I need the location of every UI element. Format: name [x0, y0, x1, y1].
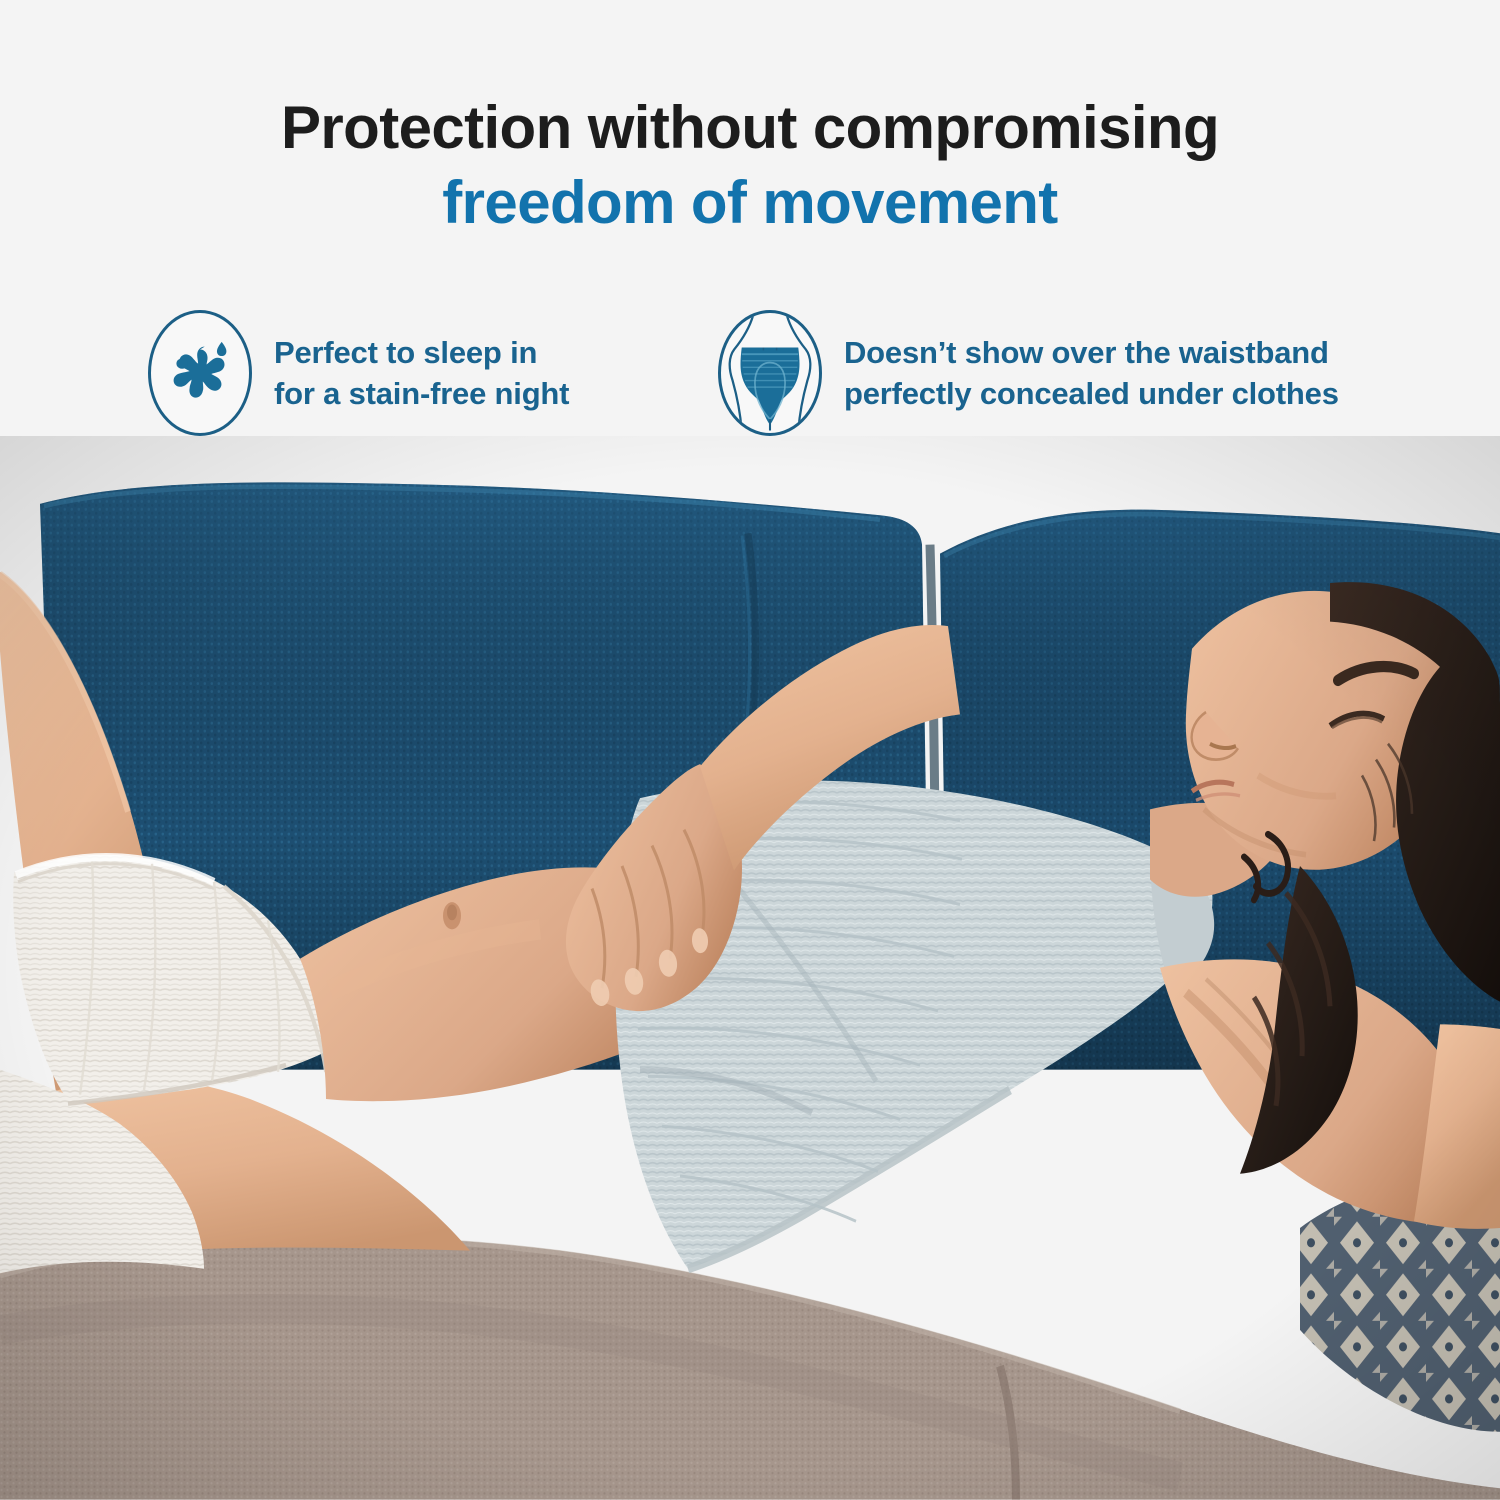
feature-item-concealed: Doesn’t show over the waistband perfectl… [718, 310, 1460, 436]
feature-2-line-2: perfectly concealed under clothes [844, 373, 1339, 414]
headline-line-1: Protection without compromising [0, 96, 1500, 160]
feature-1-line-2: for a stain-free night [274, 373, 569, 414]
lifestyle-photo [0, 436, 1500, 1500]
feature-2-line-1: Doesn’t show over the waistband [844, 332, 1339, 373]
feature-row: Perfect to sleep in for a stain-free nig… [0, 310, 1500, 436]
underwear-brief-icon [718, 310, 822, 436]
promo-page: Protection without compromising freedom … [0, 0, 1500, 1500]
headline-block: Protection without compromising freedom … [0, 0, 1500, 238]
feature-1-line-1: Perfect to sleep in [274, 332, 569, 373]
feature-text-concealed: Doesn’t show over the waistband perfectl… [844, 332, 1339, 414]
feature-text-stain-free: Perfect to sleep in for a stain-free nig… [274, 332, 569, 414]
feature-item-stain-free: Perfect to sleep in for a stain-free nig… [148, 310, 718, 436]
headline-line-2: freedom of movement [0, 168, 1500, 239]
splash-stain-icon [148, 310, 252, 436]
